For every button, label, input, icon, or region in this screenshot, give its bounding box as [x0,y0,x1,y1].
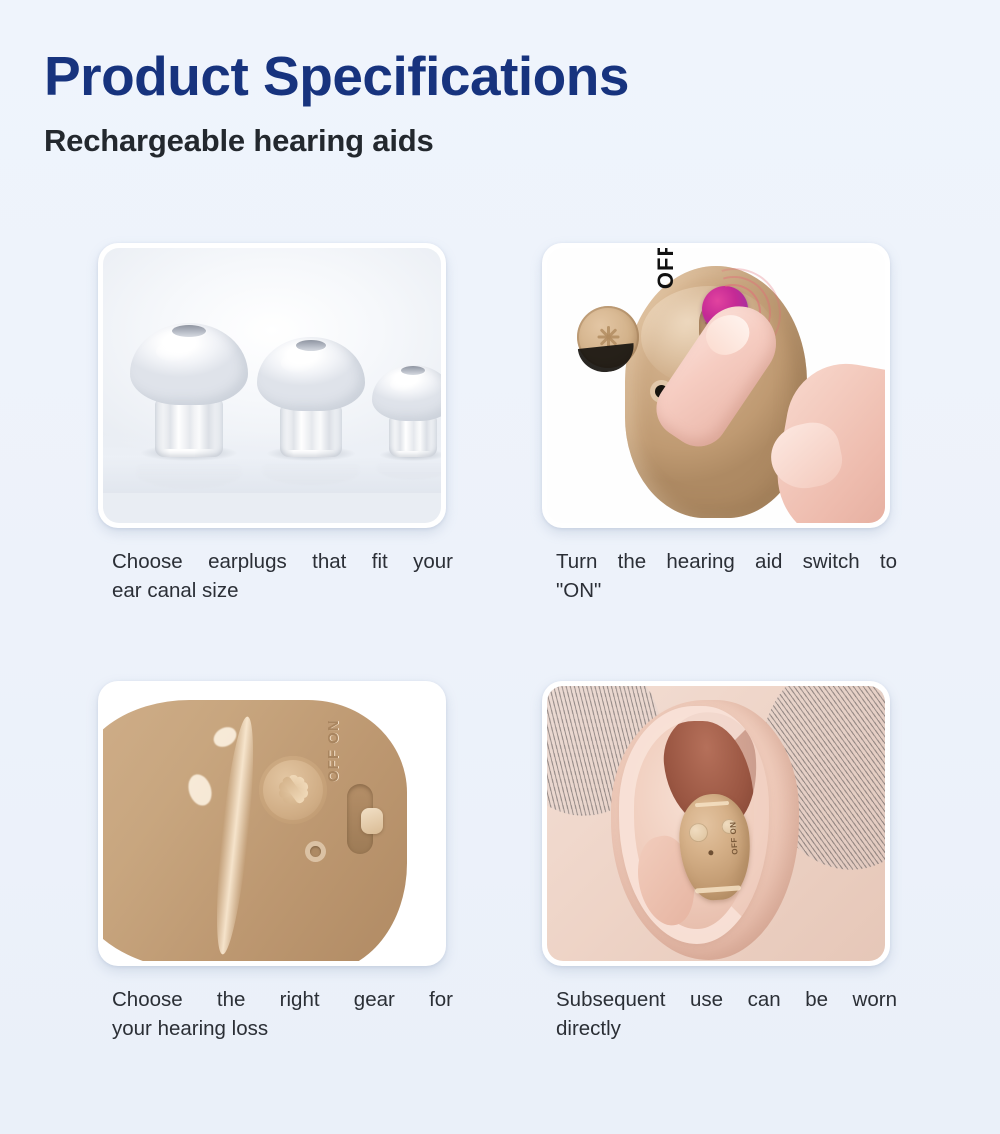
finger-pressing-switch [723,274,885,523]
page-subtitle: Rechargeable hearing aids [44,123,944,159]
caption-line-1: Turn the hearing aid switch to [556,547,897,576]
steps-row-2: OFF ON Choose the right gear for your he… [98,681,890,1043]
step-1-image-card [98,243,446,528]
steps-grid: Choose earplugs that fit your ear canal … [98,243,890,1043]
hearing-aid-gear-photo: OFF ON [103,686,441,961]
step-3-image-card: OFF ON [98,681,446,966]
off-on-label: OFF ON [325,719,342,782]
caption-line-1: Choose earplugs that fit your [112,547,453,576]
caption-line-2: your hearing loss [112,1014,453,1043]
earplug-sizes-photo [103,248,441,523]
earplug-group [103,307,441,457]
step-4-image-card: OFF ON [542,681,890,966]
microphone-port [708,850,713,855]
hearing-aid-in-ear-photo: OFF ON [547,686,885,961]
step-4-caption: Subsequent use can be worn directly [542,985,897,1043]
microphone-port [310,846,321,857]
earplug-small [371,357,441,457]
power-switch-knob [361,808,383,834]
earplug-sound-bore [172,325,206,337]
earplug-medium [255,329,367,457]
gear-wheel [259,756,327,824]
step-1-caption: Choose earplugs that fit your ear canal … [98,547,453,605]
off-on-label: OFF ON [728,821,739,855]
earplug-reflection [137,459,241,488]
step-3-caption: Choose the right gear for your hearing l… [98,985,453,1043]
caption-line-1: Subsequent use can be worn [556,985,897,1014]
page-header: Product Specifications Rechargeable hear… [44,46,944,159]
step-item-3: OFF ON Choose the right gear for your he… [98,681,446,1043]
hearing-aid-switch-photo: OFF ON [547,248,885,523]
product-specifications-page: Product Specifications Rechargeable hear… [0,0,1000,1134]
earplug-stem [155,399,223,457]
earplug-stem [389,415,437,457]
step-item-4: OFF ON Subsequent use can be worn direct… [542,681,890,1043]
off-on-label: OFF ON [655,248,677,296]
aid-bottom-strip [695,885,741,893]
earplug-sound-bore [401,366,425,375]
caption-line-1: Choose the right gear for [112,985,453,1014]
earplug-sound-bore [296,340,326,351]
step-item-1: Choose earplugs that fit your ear canal … [98,243,446,605]
earplug-reflection [377,459,441,479]
earplug-reflection [263,459,359,485]
step-item-2: OFF ON [542,243,890,605]
page-title: Product Specifications [44,46,944,106]
aid-top-strip [695,801,729,807]
caption-line-2: directly [556,1014,897,1043]
volume-dial [688,822,708,842]
step-2-caption: Turn the hearing aid switch to "ON" [542,547,897,605]
earplug-large [129,317,249,457]
earplug-stem [280,405,342,457]
step-2-image-card: OFF ON [542,243,890,528]
caption-line-2: "ON" [556,576,897,605]
steps-row-1: Choose earplugs that fit your ear canal … [98,243,890,605]
caption-line-2: ear canal size [112,576,453,605]
